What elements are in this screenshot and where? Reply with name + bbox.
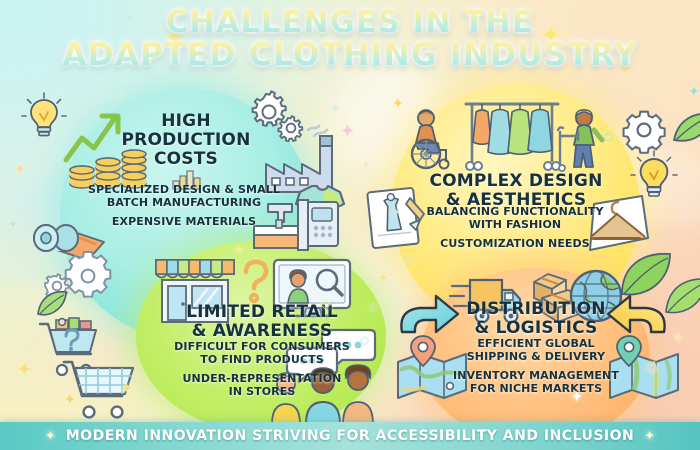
- footer-banner: ✦ MODERN INNOVATION STRIVING FOR ACCESSI…: [0, 422, 700, 450]
- sparkle-icon: ✦: [45, 428, 56, 444]
- title-line-2: ADAPTED CLOTHING INDUSTRY: [0, 39, 700, 72]
- title-line-1: CHALLENGES IN THE: [0, 6, 700, 39]
- sparkle-icon: ✦: [688, 84, 700, 98]
- section-points-design: BALANCING FUNCTIONALITY WITH FASHION CUS…: [0, 206, 700, 251]
- sparkle-icon: ✦: [118, 90, 127, 101]
- sparkle-icon: ✦: [378, 272, 388, 284]
- section-heading-logistics: DISTRIBUTION & LOGISTICS: [0, 300, 700, 338]
- sparkle-icon: ◦: [300, 94, 304, 106]
- section-points-logistics: EFFICIENT GLOBAL SHIPPING & DELIVERY INV…: [0, 338, 700, 395]
- infographic-poster: CHALLENGES IN THE ADAPTED CLOTHING INDUS…: [0, 0, 700, 450]
- footer-text: MODERN INNOVATION STRIVING FOR ACCESSIBI…: [66, 428, 635, 444]
- section-heading-production: HIGH PRODUCTION COSTS: [0, 112, 700, 169]
- sparkle-icon: ✦: [392, 96, 404, 110]
- page-title: CHALLENGES IN THE ADAPTED CLOTHING INDUS…: [0, 6, 700, 72]
- sparkle-icon: ✦: [644, 428, 655, 444]
